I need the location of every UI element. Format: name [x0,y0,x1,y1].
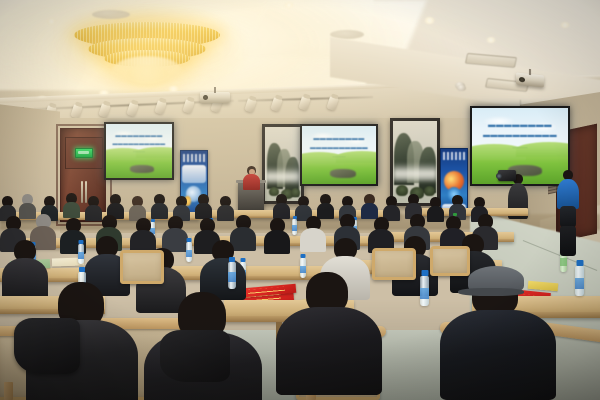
slide-title-line2: ▬▬▬▬▬▬▬▬▬▬ [110,141,168,147]
landscape-painting-right [390,118,440,206]
camera-lens-icon [496,173,502,179]
landscape-painting-left [262,124,304,204]
baseball-cap [468,266,524,294]
projection-screen-left: ▬▬▬▬▬▬▬▬ ▬▬▬▬▬▬▬▬▬▬ ·········· [104,122,174,180]
ceiling-projector-center [200,92,230,103]
slide-title-line1: ▬▬▬▬▬▬▬▬ [110,133,168,140]
water-bottle [300,258,306,278]
projection-screen-center: ▬▬▬▬▬▬▬▬ ▬▬▬▬▬▬▬▬▬▬ ·········· [300,124,378,186]
downlight [560,22,570,28]
staff-blue-jacket [556,170,580,228]
standing-person-legs [560,226,576,256]
downlight [486,37,496,43]
draped-coat [14,318,80,374]
slide-title-line1: ▬▬▬▬▬▬▬▬ [478,120,562,129]
chair [430,246,470,276]
slide-subtitle: ·········· [308,155,370,159]
water-bottle [420,276,429,306]
water-bottle [228,262,236,289]
downlight [424,17,435,24]
water-bottle [186,242,192,262]
chair-leg [4,382,13,400]
downlight [46,18,57,25]
table-row [408,208,528,216]
water-bottle [575,266,584,296]
slide-subtitle: ·········· [480,145,561,150]
dome-security-camera-2 [457,85,466,91]
conference-hall-photo: ▬▬▬▬▬▬▬▬ ▬▬▬▬▬▬▬▬▬▬ ·········· ▬▬▬▬▬▬▬▬ … [0,0,600,400]
downlight [284,2,294,8]
presenter [240,166,262,196]
slide-title-line2: ▬▬▬▬▬▬▬▬▬▬ [478,132,562,141]
slide-subtitle: ·········· [111,150,166,154]
water-bottle [78,244,84,264]
chair [120,250,164,284]
slide-title-line1: ▬▬▬▬▬▬▬▬ [306,136,371,144]
draped-coat [160,330,230,382]
chandelier [62,8,232,88]
chair [372,248,416,280]
ceiling-vent-oval [92,10,130,19]
water-bottle [292,219,297,235]
exit-sign [75,148,93,158]
slide-title-line2: ▬▬▬▬▬▬▬▬▬▬ [306,145,371,152]
